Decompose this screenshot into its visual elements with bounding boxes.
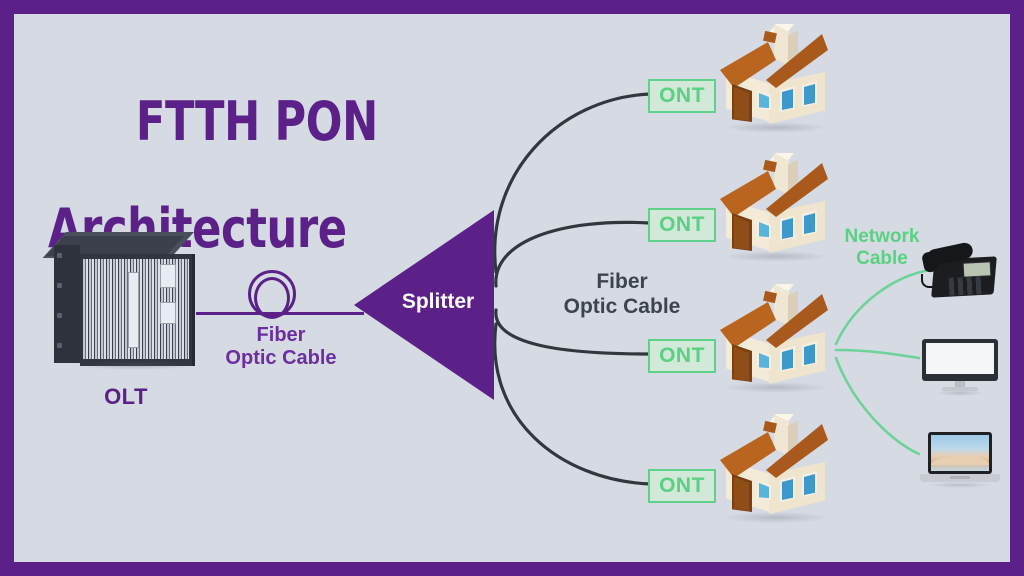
splitter-label: Splitter — [382, 290, 494, 314]
ont-box-2[interactable]: ONT — [648, 208, 716, 242]
chimney-icon — [774, 153, 789, 194]
ont-box-3[interactable]: ONT — [648, 339, 716, 373]
ont-box-4[interactable]: ONT — [648, 469, 716, 503]
fiber-optic-link-left: Fiber Optic Cable — [186, 262, 376, 392]
network-curve-phone — [836, 270, 930, 344]
fiber-center-label-line-1: Fiber — [522, 269, 722, 294]
network-curve-laptop — [836, 358, 919, 454]
fiber-center-label-line-2: Optic Cable — [522, 294, 722, 319]
ont-label-2: ONT — [659, 213, 705, 237]
chimney-icon — [774, 414, 789, 455]
chimney-icon — [774, 24, 789, 65]
house-1 — [714, 26, 834, 136]
desktop-monitor-icon — [922, 339, 998, 395]
diagram-frame: FTTH PON Architecture — [0, 0, 1024, 576]
laptop-icon — [920, 432, 1000, 488]
title-line-1: FTTH PON — [136, 90, 378, 153]
ont-label-1: ONT — [659, 84, 705, 108]
fiber-left-label-line-1: Fiber — [186, 324, 376, 347]
chimney-icon — [774, 284, 789, 325]
fiber-left-label: Fiber Optic Cable — [186, 324, 376, 370]
fiber-center-label: Fiber Optic Cable — [522, 269, 722, 319]
desk-phone-icon — [919, 240, 999, 302]
ont-box-1[interactable]: ONT — [648, 79, 716, 113]
diagram-canvas: FTTH PON Architecture — [14, 14, 1010, 562]
splitter-node[interactable]: Splitter — [354, 210, 494, 400]
fiber-curve-1 — [495, 94, 650, 272]
fiber-coil-inner-icon — [254, 277, 290, 319]
house-4 — [714, 416, 834, 526]
ont-label-4: ONT — [659, 474, 705, 498]
house-2 — [714, 155, 834, 265]
fiber-left-label-line-2: Optic Cable — [186, 347, 376, 370]
fiber-curve-4 — [495, 324, 650, 484]
ont-label-3: ONT — [659, 344, 705, 368]
network-curve-monitor — [836, 350, 919, 358]
olt-chassis-icon — [54, 232, 196, 372]
house-3 — [714, 286, 834, 396]
